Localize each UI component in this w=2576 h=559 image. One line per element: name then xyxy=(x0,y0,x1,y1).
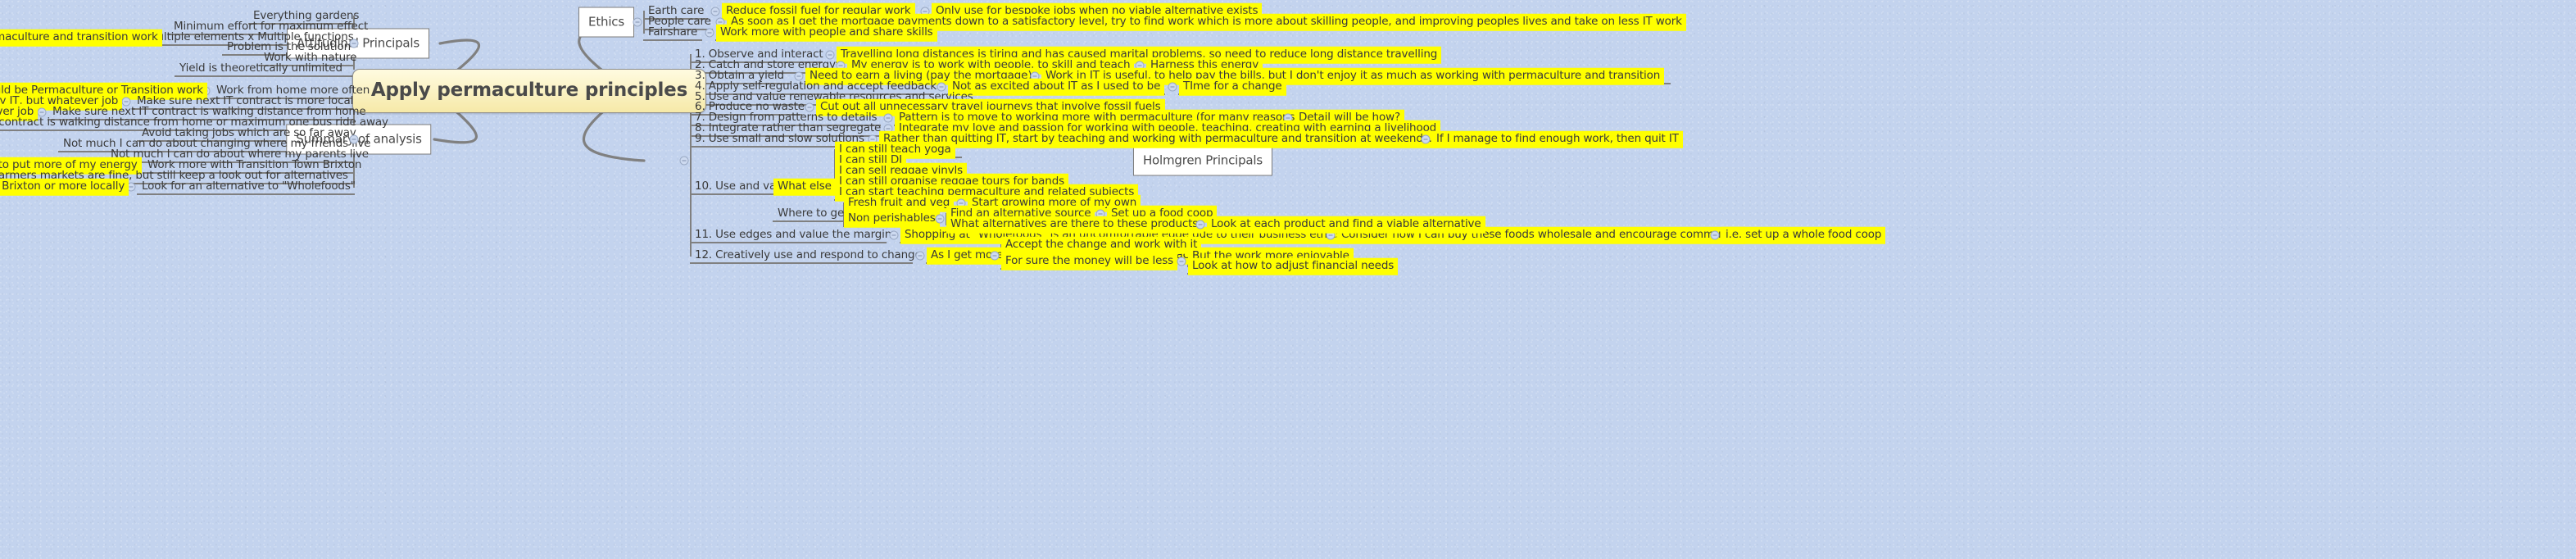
holmgren-leaf[interactable]: For sure the money will be less xyxy=(1001,253,1177,270)
node-label: For sure the money will be less xyxy=(1005,254,1173,267)
summary-item[interactable]: Look for an alternative to "Wholefoods" xyxy=(138,179,360,196)
node-label: Fairshare xyxy=(648,25,697,39)
collapse-toggle-icon[interactable] xyxy=(1711,231,1720,240)
attitudinal-note[interactable]: Aim to earn money from doing more permac… xyxy=(0,30,162,47)
node-label: Work more with people and share skills xyxy=(720,25,933,39)
collapse-toggle-icon[interactable] xyxy=(633,18,642,27)
holmgren-leaf[interactable]: Fresh fruit and veg xyxy=(844,195,954,212)
node-label: Look at how to adjust financial needs xyxy=(1192,259,1394,272)
holmgren-note[interactable]: i.e. set up a whole food coop xyxy=(1721,227,1885,244)
node-label: Non perishables xyxy=(848,211,936,225)
node-label: Look at each product and find a viable a… xyxy=(1211,217,1481,230)
node-label: What alternatives are there to these pro… xyxy=(950,217,1198,230)
ethics-item[interactable]: Fairshare xyxy=(644,25,701,42)
node-label: Aim to earn money from doing more permac… xyxy=(0,30,158,43)
collapse-toggle-icon[interactable] xyxy=(350,135,359,144)
branch-holmgren[interactable]: Holmgren Principals xyxy=(1133,146,1272,176)
node-label: TIme for a change xyxy=(1183,80,1282,93)
holmgren-note[interactable]: If I manage to find enough work, then qu… xyxy=(1432,131,1683,148)
node-label: Not as excited about IT as I used to be xyxy=(952,80,1160,93)
node-label: Rather than quitting IT, start by teachi… xyxy=(883,132,1432,145)
root-node[interactable]: Apply permaculture principles xyxy=(352,69,706,113)
holmgren-item[interactable]: 11. Use edges and value the margins xyxy=(691,227,901,244)
holmgren-item[interactable]: 12. Creatively use and respond to change xyxy=(691,248,926,265)
node-label: If I manage to find enough work, then qu… xyxy=(1436,132,1679,145)
collapse-toggle-icon[interactable] xyxy=(350,39,359,48)
node-label: Yield is theoretically unlimited xyxy=(179,61,342,75)
holmgren-note[interactable]: Not as excited about IT as I used to be xyxy=(948,79,1164,96)
node-label: Look for an alternative to "Wholefoods" xyxy=(142,180,356,193)
node-label: 12. Creatively use and respond to change xyxy=(695,248,922,261)
collapse-toggle-icon[interactable] xyxy=(936,215,945,224)
holmgren-note[interactable]: Rather than quitting IT, start by teachi… xyxy=(879,131,1436,148)
holmgren-leaf[interactable]: Look at each product and find a viable a… xyxy=(1207,216,1485,234)
branch-ethics[interactable]: Ethics xyxy=(578,7,634,38)
collapse-toggle-icon[interactable] xyxy=(705,29,714,38)
holmgren-leaf[interactable]: What alternatives are there to these pro… xyxy=(946,216,1202,234)
collapse-toggle-icon[interactable] xyxy=(890,231,899,240)
node-label: Accept the change and work with it xyxy=(1005,238,1197,251)
node-label: Holmgren Principals xyxy=(1143,153,1263,168)
collapse-toggle-icon[interactable] xyxy=(1196,220,1205,230)
collapse-toggle-icon[interactable] xyxy=(991,252,1000,261)
root-label: Apply permaculture principles xyxy=(371,80,687,101)
node-label: Fresh fruit and veg xyxy=(848,196,950,209)
collapse-toggle-icon[interactable] xyxy=(916,252,925,261)
collapse-toggle-icon[interactable] xyxy=(1422,135,1431,144)
holmgren-note[interactable]: TIme for a change xyxy=(1179,79,1286,96)
collapse-toggle-icon[interactable] xyxy=(680,157,689,166)
collapse-toggle-icon[interactable] xyxy=(1168,83,1177,92)
ethics-note[interactable]: Work more with people and share skills xyxy=(716,25,937,42)
collapse-toggle-icon[interactable] xyxy=(1177,257,1186,266)
attitudinal-item[interactable]: Yield is theoretically unlimited xyxy=(175,61,347,78)
holmgren-leaf[interactable]: Accept the change and work with it xyxy=(1001,237,1201,254)
holmgren-leaf[interactable]: Look at how to adjust financial needs xyxy=(1188,258,1398,275)
holmgren-leaf[interactable]: Non perishables xyxy=(844,211,940,228)
node-label: Consider setting up a food coop in Brixt… xyxy=(0,180,125,193)
node-label: 11. Use edges and value the margins xyxy=(695,228,897,241)
summary-note[interactable]: Consider setting up a food coop in Brixt… xyxy=(0,179,129,196)
node-label: i.e. set up a whole food coop xyxy=(1726,228,1881,241)
node-label: Ethics xyxy=(588,15,624,30)
mindmap-canvas: Apply permaculture principles EthicsEart… xyxy=(0,0,2576,559)
